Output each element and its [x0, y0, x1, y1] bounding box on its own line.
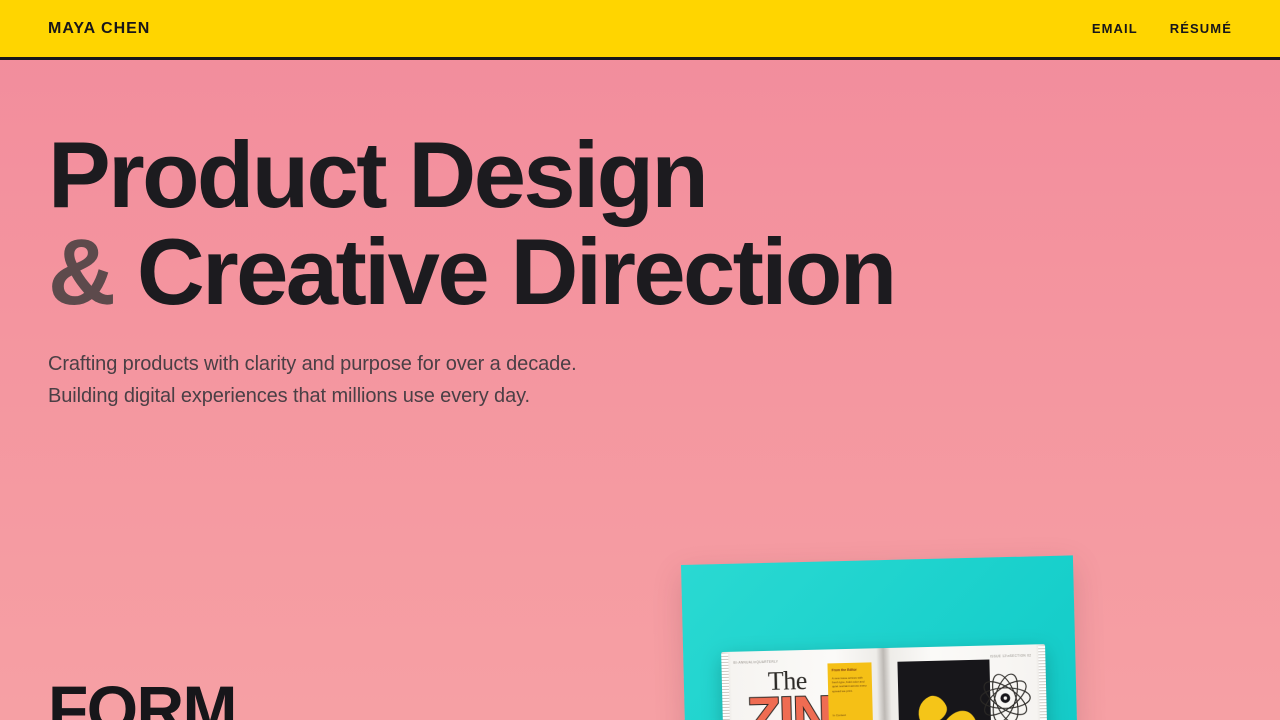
- nav-links: EMAIL RÉSUMÉ: [1092, 21, 1240, 36]
- hero-section: Product Design & Creative Direction Craf…: [0, 60, 1280, 412]
- magazine-folio: ISSUE 12\nSECTION 02: [990, 653, 1031, 659]
- magazine-right-page: ISSUE 12\nSECTION 02: [883, 644, 1050, 720]
- headline-line-1: Product Design: [48, 128, 1232, 221]
- page-root: MAYA CHEN EMAIL RÉSUMÉ Product Design & …: [0, 0, 1280, 720]
- magazine-masthead: BI-ANNUAL\nQUARTERLY: [733, 660, 778, 666]
- top-navigation-bar: MAYA CHEN EMAIL RÉSUMÉ: [0, 0, 1280, 60]
- nav-link-resume[interactable]: RÉSUMÉ: [1170, 21, 1232, 36]
- nav-link-email[interactable]: EMAIL: [1092, 21, 1138, 36]
- page-edge-left: [721, 654, 733, 720]
- ampersand-glyph: &: [48, 219, 113, 324]
- sidebar-body: A new issue arrives with fresh type, bol…: [832, 675, 868, 693]
- headline-line-2-text: Creative Direction: [137, 219, 895, 324]
- page-title: Product Design & Creative Direction: [48, 128, 1232, 318]
- subtitle-line-2: Building digital experiences that millio…: [48, 385, 530, 407]
- sidebar-heading: From the Editor: [832, 667, 868, 673]
- hero-subtitle: Crafting products with clarity and purpo…: [48, 348, 1232, 412]
- atom-diagram-icon: [978, 670, 1033, 720]
- magazine-left-page: BI-ANNUAL\nQUARTERLY The ZIN From the Ed…: [721, 648, 888, 720]
- subtitle-line-1: Crafting products with clarity and purpo…: [48, 353, 577, 375]
- brand-logo[interactable]: MAYA CHEN: [48, 20, 150, 38]
- magazine-sidebar: From the Editor A new issue arrives with…: [827, 662, 875, 720]
- pear-shape-small-icon: [912, 692, 950, 720]
- magazine-spread-image: BI-ANNUAL\nQUARTERLY The ZIN From the Ed…: [721, 644, 1050, 720]
- headline-line-2: & Creative Direction: [48, 225, 1232, 318]
- showcase-card[interactable]: BI-ANNUAL\nQUARTERLY The ZIN From the Ed…: [681, 555, 1080, 720]
- sidebar-body-2: In Context: [833, 712, 869, 717]
- magazine-title: ZIN: [746, 687, 832, 720]
- section-heading-form: FORM: [48, 676, 236, 720]
